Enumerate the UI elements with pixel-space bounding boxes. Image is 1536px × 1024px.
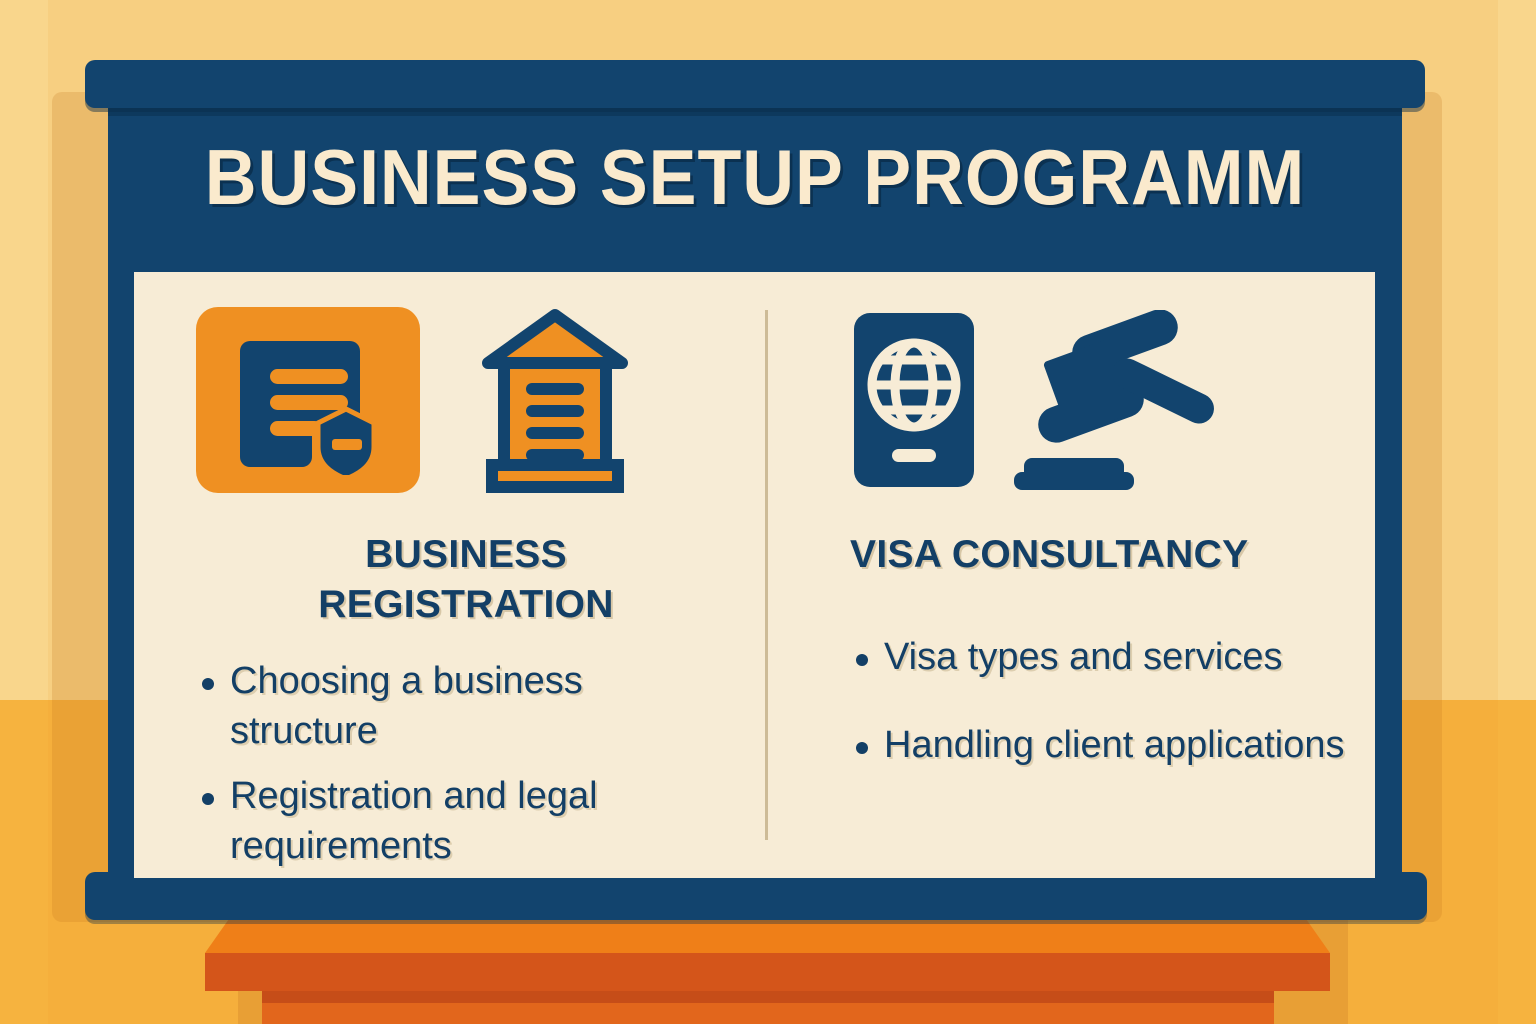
list-item: Handling client applications — [850, 720, 1370, 771]
list-item: Registration and legal requirements — [196, 771, 736, 872]
section-heading-line-1: VISA CONSULTANCY — [850, 530, 1370, 580]
podium-column-shade — [262, 991, 1274, 1003]
section-heading-line-1: BUSINESS — [196, 530, 736, 580]
document-shield-icon — [196, 307, 420, 493]
bank-building-icon — [480, 307, 630, 493]
column-business-registration: BUSINESS REGISTRATION Choosing a busines… — [196, 300, 736, 886]
section-heading-visa-consultancy: VISA CONSULTANCY — [850, 530, 1370, 580]
icon-row-left — [196, 300, 736, 500]
icon-row-right — [850, 300, 1370, 500]
section-heading-line-2: REGISTRATION — [196, 580, 736, 630]
column-divider — [765, 310, 768, 840]
infographic-poster: BUSINESS SETUP PROGRAMM — [0, 0, 1536, 1024]
list-item: Visa types and services — [850, 632, 1370, 683]
bullet-list-visa-consultancy: Visa types and services Handling client … — [850, 632, 1370, 771]
bullet-list-business-registration: Choosing a business structure Registrati… — [196, 656, 736, 872]
column-visa-consultancy: VISA CONSULTANCY Visa types and services… — [850, 300, 1370, 809]
podium-front-band — [205, 953, 1330, 991]
section-heading-business-registration: BUSINESS REGISTRATION — [196, 530, 736, 630]
page-title: BUSINESS SETUP PROGRAMM — [160, 132, 1350, 223]
passport-globe-icon — [850, 309, 978, 491]
gavel-icon — [1012, 310, 1224, 490]
list-item: Choosing a business structure — [196, 656, 736, 757]
board-rail-top — [85, 60, 1425, 108]
